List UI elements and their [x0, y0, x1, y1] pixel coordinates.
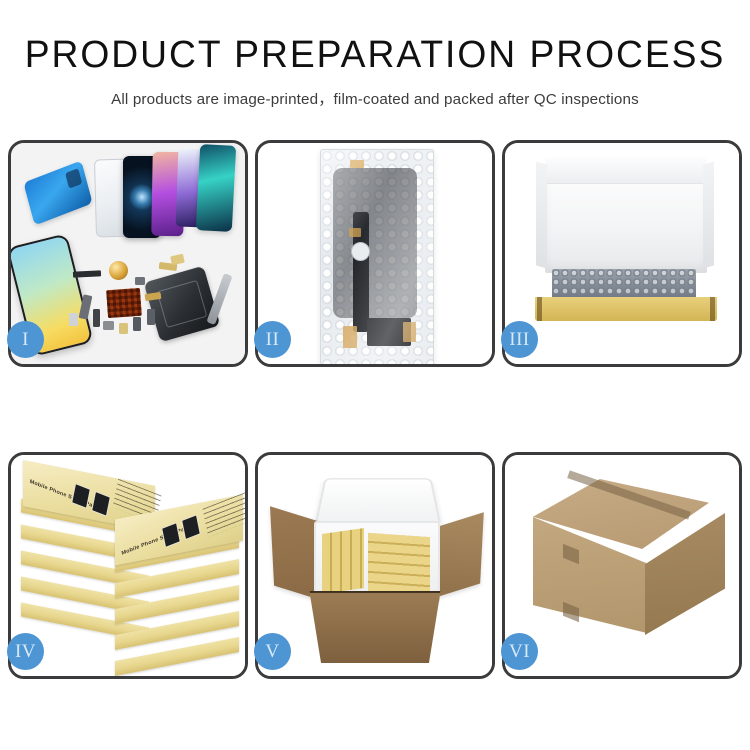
part-icon: [147, 309, 155, 325]
panel-5-numeral-badge: V: [254, 633, 291, 670]
part-icon: [103, 321, 114, 330]
bubble-contents-icon: [552, 269, 696, 299]
process-panel-3[interactable]: III: [502, 140, 742, 367]
foam-case-lid-icon: [314, 478, 441, 526]
part-icon: [69, 313, 78, 326]
panel-1-image: [11, 143, 245, 364]
carton-body-icon: [304, 593, 446, 663]
blue-back-cover-icon: [23, 161, 92, 226]
kraft-tray-front-icon: [535, 297, 717, 321]
yellow-boxes-right-icon: [368, 533, 430, 595]
process-panel-1[interactable]: I: [8, 140, 248, 367]
part-icon: [133, 317, 141, 331]
plastic-sheen-overlay: [321, 150, 433, 364]
teal-phone-icon: [196, 144, 236, 232]
panel-3-image: [505, 143, 739, 364]
process-panel-2[interactable]: II: [255, 140, 495, 367]
chip-grid-icon: [106, 288, 142, 318]
panel-4-image: Mobile Phone Spare Parts Mobile Phone Sp…: [11, 455, 245, 676]
foam-lid-right-edge: [703, 161, 714, 268]
yellow-boxes-left-icon: [322, 528, 364, 594]
panel-6-image: [505, 455, 739, 676]
phone-back-plate-icon: [144, 266, 221, 343]
flex-strip-icon: [73, 270, 101, 277]
process-panel-4[interactable]: Mobile Phone Spare Parts Mobile Phone Sp…: [8, 452, 248, 679]
phone-parts-scene: [11, 143, 245, 364]
part-icon: [93, 309, 100, 327]
page-header: PRODUCT PREPARATION PROCESS All products…: [0, 0, 750, 109]
page-title: PRODUCT PREPARATION PROCESS: [8, 36, 743, 74]
panel-2-numeral-badge: II: [254, 321, 291, 358]
part-icon: [135, 277, 145, 285]
box-stack-icon: Mobile Phone Spare Parts Mobile Phone Sp…: [19, 467, 243, 671]
panel-3-numeral-badge: III: [501, 321, 538, 358]
process-panel-5[interactable]: V: [255, 452, 495, 679]
panel-6-numeral-badge: VI: [501, 633, 538, 670]
page-subtitle: All products are image-printed，film-coat…: [0, 87, 750, 109]
panel-2-image: [258, 143, 492, 364]
process-panel-grid: I II III: [0, 140, 750, 679]
foam-lid-icon: [545, 157, 707, 273]
process-panel-6[interactable]: VI: [502, 452, 742, 679]
part-icon: [119, 323, 128, 334]
panel-5-image: [258, 455, 492, 676]
part-icon: [170, 254, 185, 266]
panel-4-numeral-badge: IV: [7, 633, 44, 670]
bubble-wrap-icon: [320, 149, 434, 364]
panel-1-numeral-badge: I: [7, 321, 44, 358]
speaker-coil-icon: [109, 261, 128, 280]
